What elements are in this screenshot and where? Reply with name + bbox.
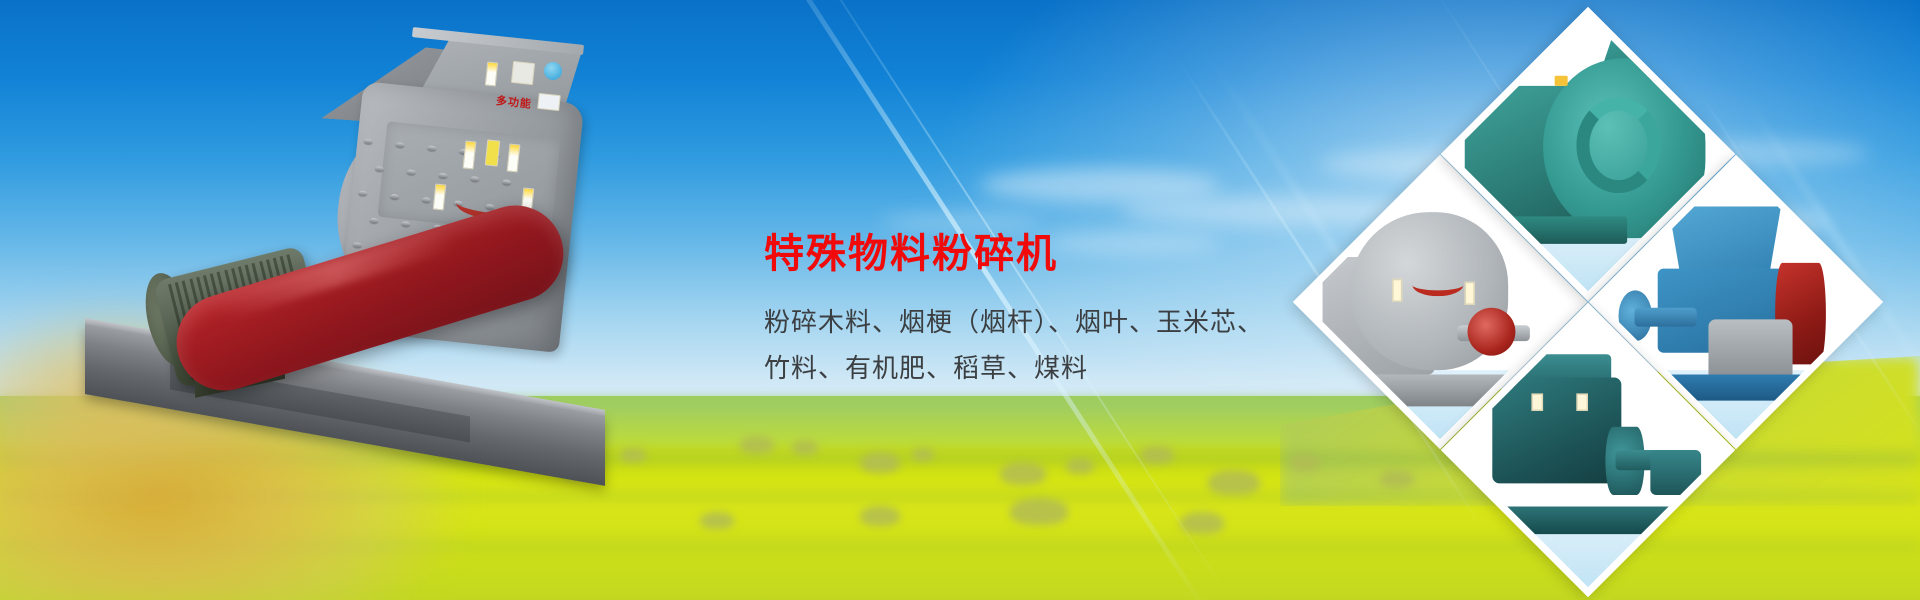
product-banner: 多功能 特殊物料粉碎机 粉碎木料、烟梗（烟杆）、烟叶、玉米芯、 竹料、有机肥、稻… <box>0 0 1920 600</box>
product-collage <box>1380 98 1800 518</box>
hay-bale <box>1010 498 1068 525</box>
machine-motor <box>1708 319 1792 381</box>
machine-warning-label <box>1554 75 1567 85</box>
machine-rivet <box>401 221 410 227</box>
hay-bale <box>1066 458 1094 474</box>
hay-bale <box>1000 462 1046 485</box>
hay-bale <box>1208 470 1260 495</box>
machine-shaft <box>1635 308 1697 328</box>
hay-bale <box>740 436 774 454</box>
machine-rivet <box>358 190 367 196</box>
banner-text-block: 特殊物料粉碎机 粉碎木料、烟梗（烟杆）、烟叶、玉米芯、 竹料、有机肥、稻草、煤料 <box>764 232 1284 391</box>
machine-rivet <box>375 166 384 172</box>
cloud-icon <box>980 168 1220 202</box>
machine-warning-label <box>1577 394 1589 411</box>
machine-spec-plate <box>511 61 535 85</box>
machine-rivet <box>502 179 511 185</box>
main-machine-image: 多功能 <box>60 18 700 488</box>
machine-warning-label <box>1532 394 1544 411</box>
machine-rivet <box>422 197 431 203</box>
machine-yellow-label <box>485 139 501 166</box>
machine-rivet <box>395 142 404 148</box>
hay-bale <box>860 506 900 526</box>
cloud-icon <box>880 212 1040 232</box>
machine-rivet <box>353 242 362 248</box>
description-line-2: 竹料、有机肥、稻草、煤料 <box>764 345 1284 391</box>
hay-bale <box>1140 446 1174 464</box>
machine-motor <box>1650 450 1701 495</box>
machine-rivet <box>427 145 436 151</box>
hay-bale <box>700 512 734 529</box>
machine-rivet <box>369 218 378 224</box>
machine-rivet <box>438 173 447 179</box>
hay-bale <box>792 440 818 455</box>
machine-rivet <box>363 139 372 145</box>
machine-rivet <box>406 169 415 175</box>
hay-bale <box>860 452 900 473</box>
hay-bale <box>1180 512 1224 534</box>
description-line-1: 粉碎木料、烟梗（烟杆）、烟叶、玉米芯、 <box>764 299 1284 345</box>
hay-bale <box>1290 454 1320 471</box>
machine-body <box>1492 377 1621 484</box>
page-title: 特殊物料粉碎机 <box>764 232 1284 277</box>
machine-small-label <box>537 93 561 111</box>
machine-warning-label <box>1392 279 1402 302</box>
hay-bale <box>912 448 934 461</box>
machine-red-hub <box>1468 308 1516 356</box>
machine-rivet <box>470 176 479 182</box>
machine-red-arc-marking <box>1412 274 1463 296</box>
machine-rivet <box>390 194 399 200</box>
machine-warning-label <box>1465 282 1475 305</box>
